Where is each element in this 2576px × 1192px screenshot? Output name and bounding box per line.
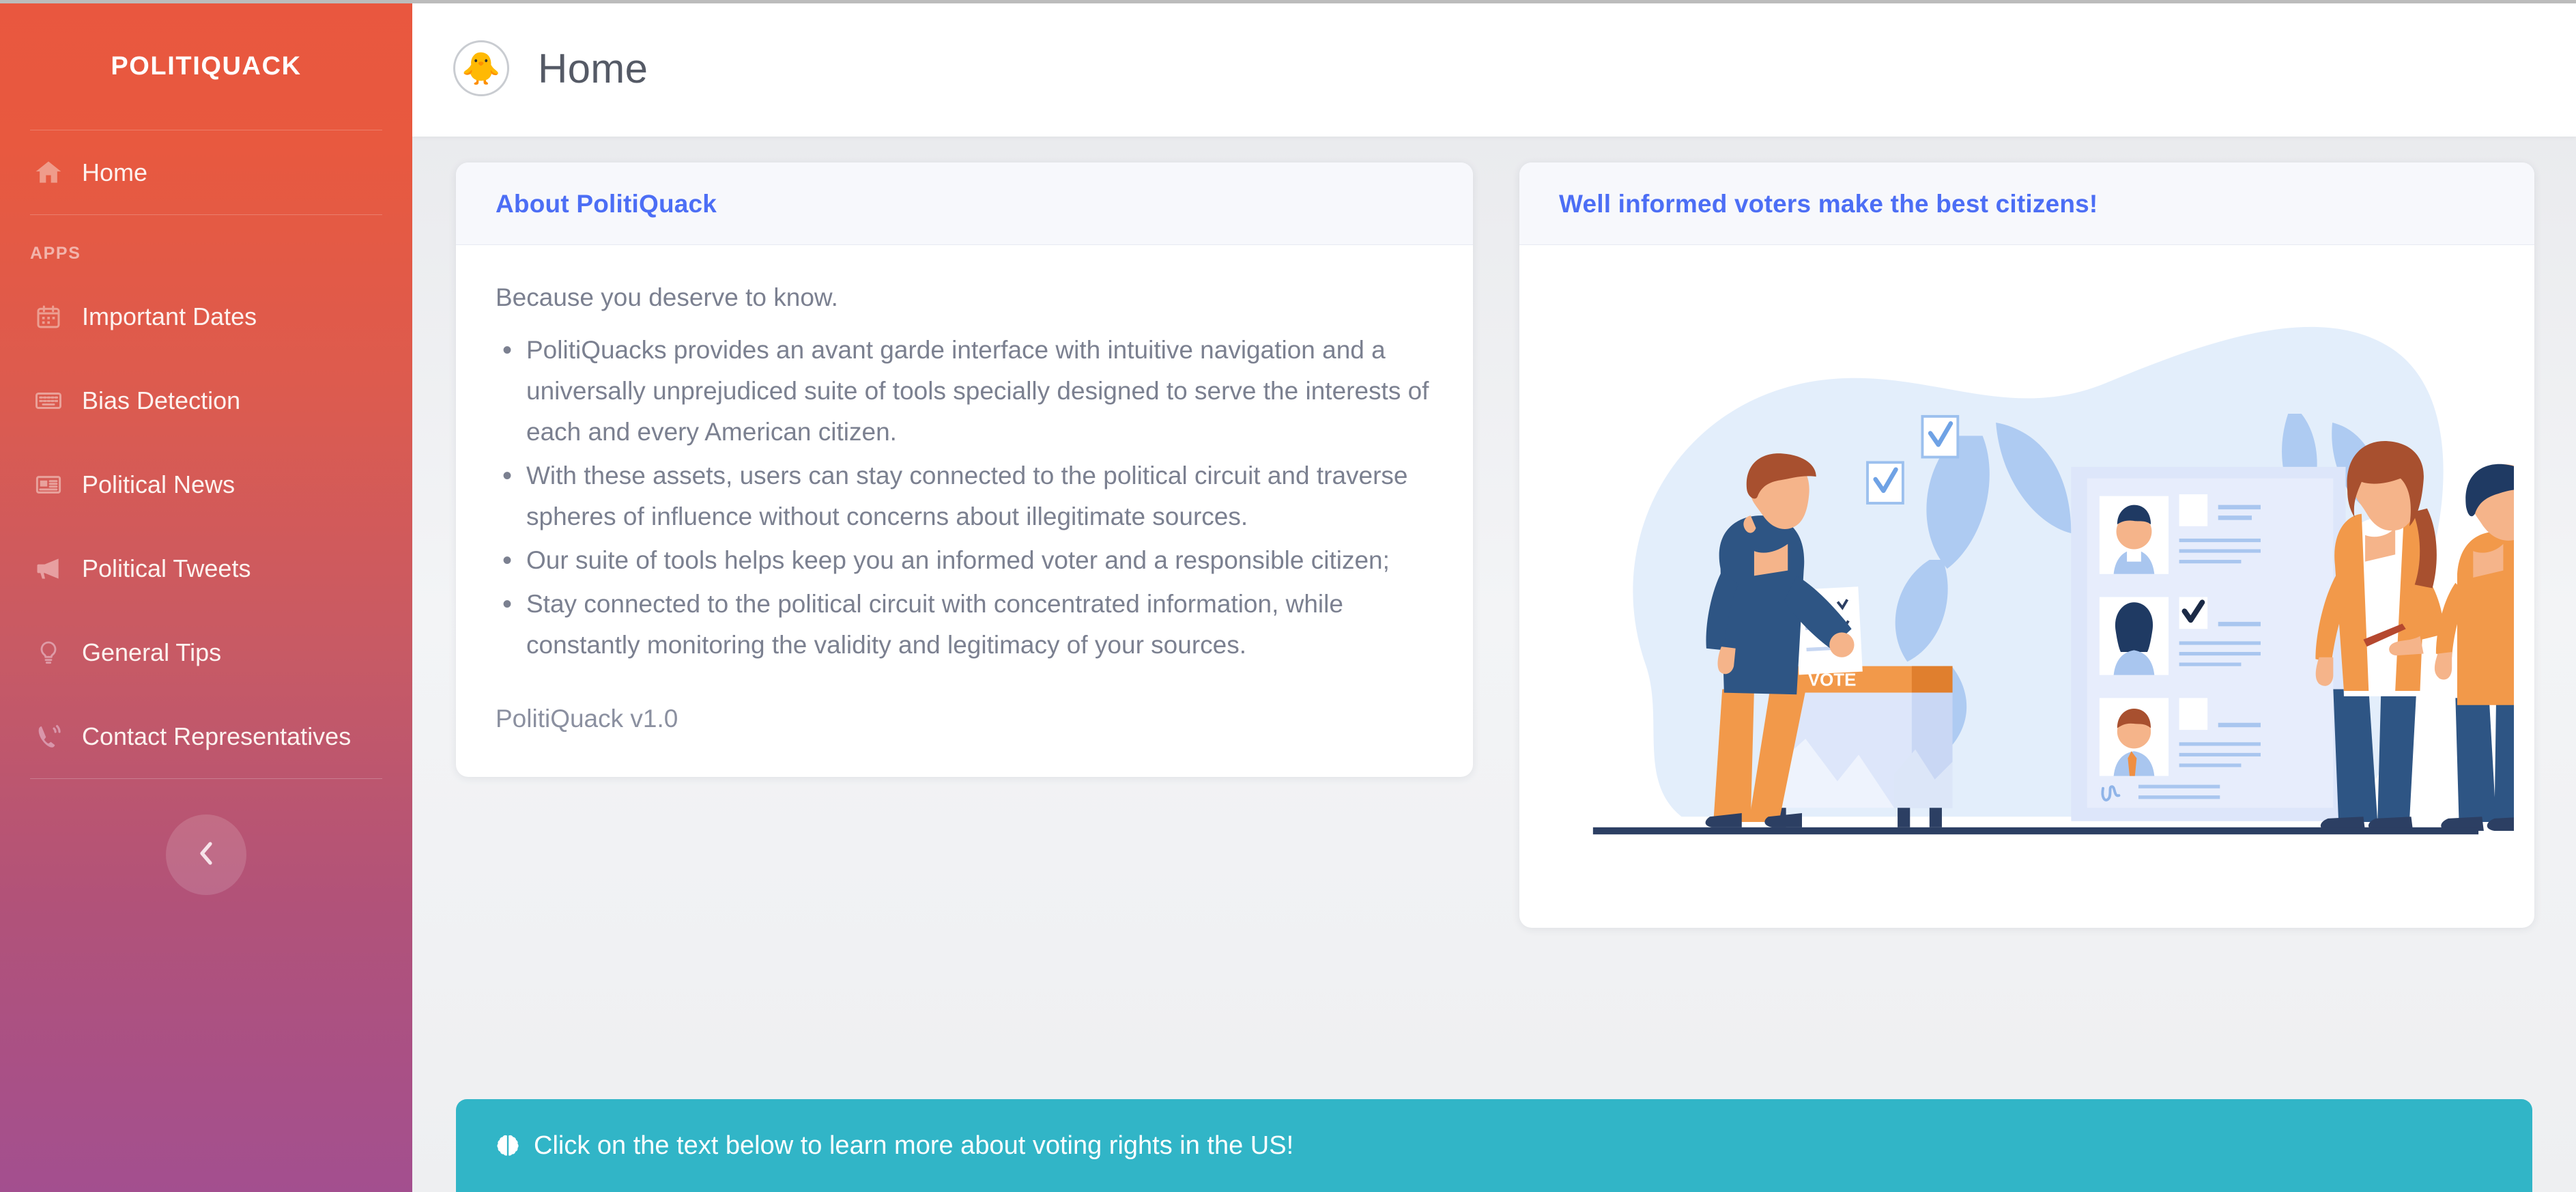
home-icon bbox=[33, 158, 64, 188]
sidebar-collapse-row bbox=[0, 779, 412, 895]
list-item: With these assets, users can stay connec… bbox=[496, 455, 1433, 537]
about-lead-text: Because you deserve to know. bbox=[496, 281, 1433, 315]
main-area: 🐥 Home About PolitiQuack Because you des… bbox=[412, 0, 2576, 1192]
list-item: Our suite of tools helps keep you an inf… bbox=[496, 540, 1433, 581]
about-card-title: About PolitiQuack bbox=[496, 190, 1433, 218]
topbar: 🐥 Home bbox=[412, 0, 2576, 137]
list-item: Stay connected to the political circuit … bbox=[496, 584, 1433, 666]
cards-row: About PolitiQuack Because you deserve to… bbox=[456, 162, 2532, 928]
lightbulb-icon bbox=[33, 639, 64, 666]
calendar-icon bbox=[33, 303, 64, 330]
sidebar-item-home[interactable]: Home bbox=[0, 130, 412, 214]
app-root: POLITIQUACK Home APPS bbox=[0, 0, 2576, 1192]
voters-card-title: Well informed voters make the best citiz… bbox=[1559, 190, 2495, 218]
list-item: PolitiQuacks provides an avant garde int… bbox=[496, 330, 1433, 453]
sidebar: POLITIQUACK Home APPS bbox=[0, 0, 412, 1192]
about-card-header: About PolitiQuack bbox=[456, 162, 1473, 245]
duck-icon: 🐥 bbox=[453, 40, 509, 96]
voting-illustration: VOTE bbox=[1519, 245, 2534, 928]
sidebar-item-label: General Tips bbox=[82, 640, 221, 665]
sidebar-item-political-news[interactable]: Political News bbox=[0, 442, 412, 526]
voters-card-header: Well informed voters make the best citiz… bbox=[1519, 162, 2534, 245]
sidebar-item-label: Political News bbox=[82, 472, 235, 497]
content-area: About PolitiQuack Because you deserve to… bbox=[412, 137, 2576, 1192]
about-card: About PolitiQuack Because you deserve to… bbox=[456, 162, 1473, 777]
app-version: PolitiQuack v1.0 bbox=[496, 705, 1433, 733]
sidebar-collapse-button[interactable] bbox=[166, 814, 246, 895]
phone-ringing-icon bbox=[33, 722, 64, 751]
banner-text: Click on the text below to learn more ab… bbox=[534, 1131, 1293, 1161]
voting-illustration-svg: VOTE bbox=[1540, 250, 2514, 923]
sidebar-item-label: Important Dates bbox=[82, 304, 257, 329]
voters-card: Well informed voters make the best citiz… bbox=[1519, 162, 2534, 928]
keyboard-icon bbox=[33, 386, 64, 415]
about-card-body: Because you deserve to know. PolitiQuack… bbox=[456, 245, 1473, 777]
browser-chrome-edge bbox=[0, 0, 2576, 3]
sidebar-item-label: Political Tweets bbox=[82, 556, 251, 581]
voting-rights-banner[interactable]: Click on the text below to learn more ab… bbox=[456, 1099, 2532, 1192]
sidebar-item-political-tweets[interactable]: Political Tweets bbox=[0, 526, 412, 610]
brain-icon bbox=[494, 1132, 521, 1159]
sidebar-item-label: Bias Detection bbox=[82, 388, 240, 413]
newspaper-icon bbox=[33, 470, 64, 499]
sidebar-item-home-label: Home bbox=[82, 160, 147, 185]
about-bullet-list: PolitiQuacks provides an avant garde int… bbox=[496, 330, 1433, 666]
sidebar-section-apps: APPS bbox=[0, 215, 412, 274]
megaphone-icon bbox=[33, 554, 64, 584]
sidebar-item-contact-representatives[interactable]: Contact Representatives bbox=[0, 694, 412, 778]
sidebar-item-bias-detection[interactable]: Bias Detection bbox=[0, 358, 412, 442]
sidebar-item-important-dates[interactable]: Important Dates bbox=[0, 274, 412, 358]
sidebar-item-general-tips[interactable]: General Tips bbox=[0, 610, 412, 694]
brand-logo: POLITIQUACK bbox=[0, 3, 412, 130]
sidebar-item-label: Contact Representatives bbox=[82, 724, 351, 749]
chevron-left-icon bbox=[190, 837, 223, 873]
page-title: Home bbox=[538, 45, 648, 92]
